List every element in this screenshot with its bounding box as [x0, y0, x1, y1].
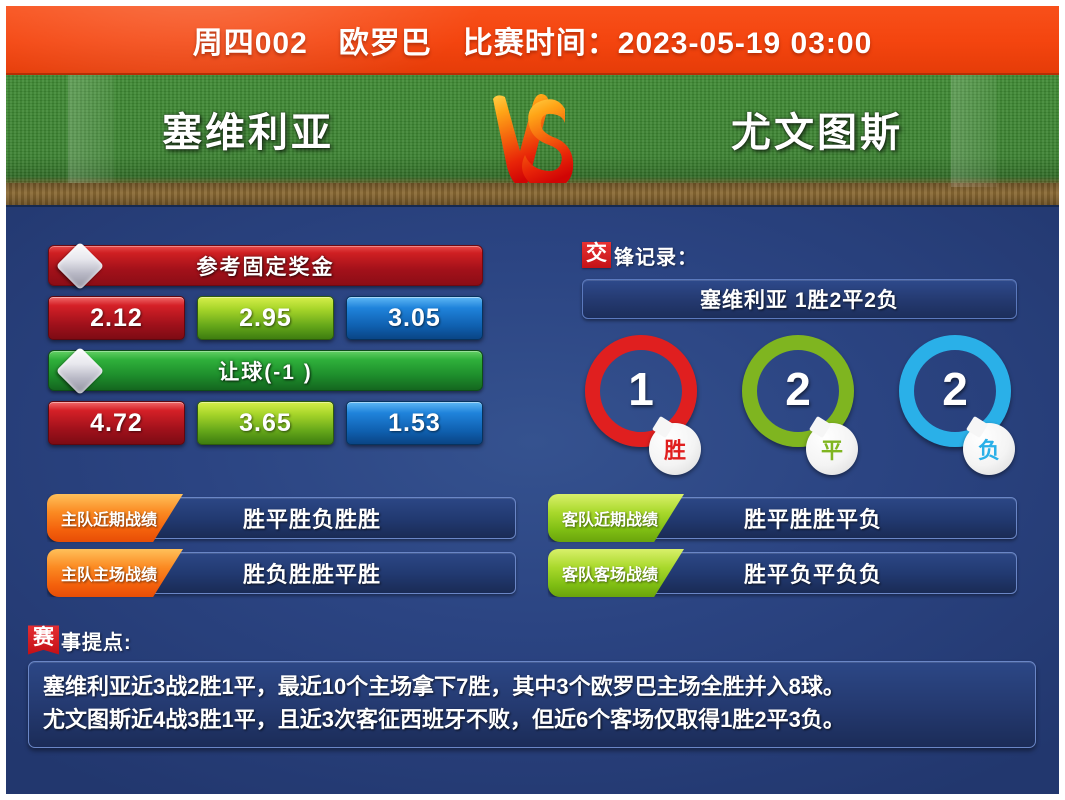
- h2h-summary: 塞维利亚 1胜2平2负: [582, 279, 1017, 319]
- odds-panel: 参考固定奖金 2.12 2.95 3.05 让球(-1 ) 4.72 3.65 …: [48, 245, 483, 455]
- head-to-head-panel: 交 锋记录： 塞维利亚 1胜2平2负: [582, 241, 1017, 319]
- content-frame: 周四002 欧罗巴 比赛时间：2023-05-19 03:00 塞维利亚: [6, 6, 1059, 794]
- home-recent-form-row: 主队近期战绩 胜平胜负胜胜: [48, 497, 516, 539]
- header-title: 周四002 欧罗巴 比赛时间：2023-05-19 03:00: [6, 18, 1059, 62]
- away-recent-form-tag: 客队近期战绩: [548, 494, 684, 542]
- diamond-icon: [56, 346, 104, 394]
- analysis-box: 塞维利亚近3战2胜1平，最近10个主场拿下7胜，其中3个欧罗巴主场全胜并入8球。…: [28, 661, 1036, 748]
- ring-lose: 2 负: [897, 335, 1015, 477]
- main-body: 参考固定奖金 2.12 2.95 3.05 让球(-1 ) 4.72 3.65 …: [6, 205, 1059, 794]
- header-bar: 周四002 欧罗巴 比赛时间：2023-05-19 03:00: [6, 6, 1059, 75]
- home-team-name: 塞维利亚: [38, 100, 458, 158]
- away-away-form-row: 客队客场战绩 胜平负平负负: [549, 552, 1017, 594]
- handicap-odd-draw[interactable]: 3.65: [197, 401, 334, 445]
- analysis-panel: 赛 事提点: 塞维利亚近3战2胜1平，最近10个主场拿下7胜，其中3个欧罗巴主场…: [28, 625, 1036, 748]
- analysis-title: 赛 事提点:: [28, 625, 1036, 655]
- pitch-dirt-strip: [6, 183, 1059, 205]
- vs-icon: [473, 81, 593, 199]
- fixed-odd-lose[interactable]: 3.05: [346, 296, 483, 340]
- head-to-head-title: 交 锋记录：: [582, 241, 1017, 269]
- fixed-odd-draw[interactable]: 2.95: [197, 296, 334, 340]
- ring-win-badge-label: 胜: [664, 433, 686, 465]
- match-preview-graphic: 周四002 欧罗巴 比赛时间：2023-05-19 03:00 塞维利亚: [0, 0, 1065, 800]
- fixed-odd-win[interactable]: 2.12: [48, 296, 185, 340]
- fixed-odds-header: 参考固定奖金: [48, 245, 483, 286]
- h2h-rings: 1 胜 2 平 2 负: [569, 335, 1029, 485]
- handicap-odds-row: 4.72 3.65 1.53: [48, 401, 483, 445]
- fixed-odds-row: 2.12 2.95 3.05: [48, 296, 483, 340]
- away-away-form-value: 胜平负平负负: [744, 557, 882, 589]
- h2h-title-label: 锋记录：: [614, 241, 698, 270]
- home-form-panel: 主队近期战绩 胜平胜负胜胜 主队主场战绩 胜负胜胜平胜: [48, 497, 516, 607]
- handicap-odds-header-label: 让球(-1 ): [218, 356, 313, 386]
- analysis-line-1: 塞维利亚近3战2胜1平，最近10个主场拿下7胜，其中3个欧罗巴主场全胜并入8球。: [43, 671, 1021, 704]
- ring-draw: 2 平: [740, 335, 858, 477]
- analysis-flag-icon: 赛: [28, 625, 59, 654]
- home-recent-form-tag: 主队近期战绩: [47, 494, 183, 542]
- ring-win: 1 胜: [583, 335, 701, 477]
- pitch-banner: 塞维利亚: [6, 75, 1059, 205]
- away-away-form-tag: 客队客场战绩: [548, 549, 684, 597]
- ring-lose-badge-label: 负: [978, 433, 1000, 465]
- handicap-odd-win[interactable]: 4.72: [48, 401, 185, 445]
- home-home-form-value: 胜负胜胜平胜: [243, 557, 381, 589]
- ring-lose-badge: 负: [963, 423, 1015, 475]
- ring-draw-badge-label: 平: [821, 433, 843, 465]
- away-form-panel: 客队近期战绩 胜平胜胜平负 客队客场战绩 胜平负平负负: [549, 497, 1017, 607]
- diamond-icon: [56, 241, 104, 289]
- handicap-odd-lose[interactable]: 1.53: [346, 401, 483, 445]
- analysis-title-label: 事提点:: [61, 626, 132, 655]
- handicap-odds-header: 让球(-1 ): [48, 350, 483, 391]
- home-home-form-tag: 主队主场战绩: [47, 549, 183, 597]
- h2h-badge-icon: 交: [582, 242, 611, 267]
- home-home-form-row: 主队主场战绩 胜负胜胜平胜: [48, 552, 516, 594]
- away-team-name: 尤文图斯: [607, 100, 1027, 158]
- fixed-odds-header-label: 参考固定奖金: [197, 251, 335, 281]
- away-recent-form-row: 客队近期战绩 胜平胜胜平负: [549, 497, 1017, 539]
- ring-draw-badge: 平: [806, 423, 858, 475]
- analysis-line-2: 尤文图斯近4战3胜1平，且近3次客征西班牙不败，但近6个客场仅取得1胜2平3负。: [43, 704, 1021, 737]
- ring-win-badge: 胜: [649, 423, 701, 475]
- away-recent-form-value: 胜平胜胜平负: [744, 502, 882, 534]
- home-recent-form-value: 胜平胜负胜胜: [243, 502, 381, 534]
